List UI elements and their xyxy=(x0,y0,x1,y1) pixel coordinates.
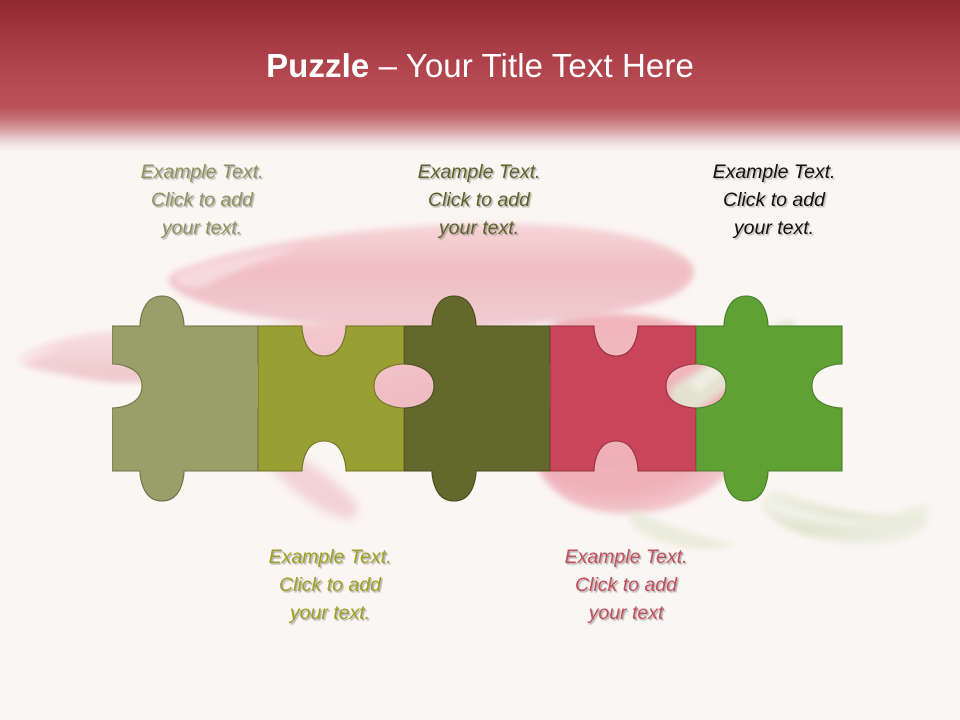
puzzle-piece-green[interactable] xyxy=(696,280,896,520)
page-title: Puzzle – Your Title Text Here xyxy=(0,46,960,86)
slide-canvas: Puzzle – Your Title Text Here Example Te… xyxy=(0,0,960,720)
page-title-bold-part: Puzzle xyxy=(266,47,369,84)
text-placeholder-bottom-right[interactable]: Example Text. Click to add your text xyxy=(528,543,724,627)
puzzle-diagram xyxy=(112,280,852,520)
text-placeholder-top-right[interactable]: Example Text. Click to add your text. xyxy=(676,158,872,242)
text-placeholder-bottom-left[interactable]: Example Text. Click to add your text. xyxy=(232,543,428,627)
page-title-light-part: – Your Title Text Here xyxy=(369,47,694,84)
text-placeholder-top-center[interactable]: Example Text. Click to add your text. xyxy=(381,158,577,242)
text-placeholder-top-left[interactable]: Example Text. Click to add your text. xyxy=(104,158,300,242)
